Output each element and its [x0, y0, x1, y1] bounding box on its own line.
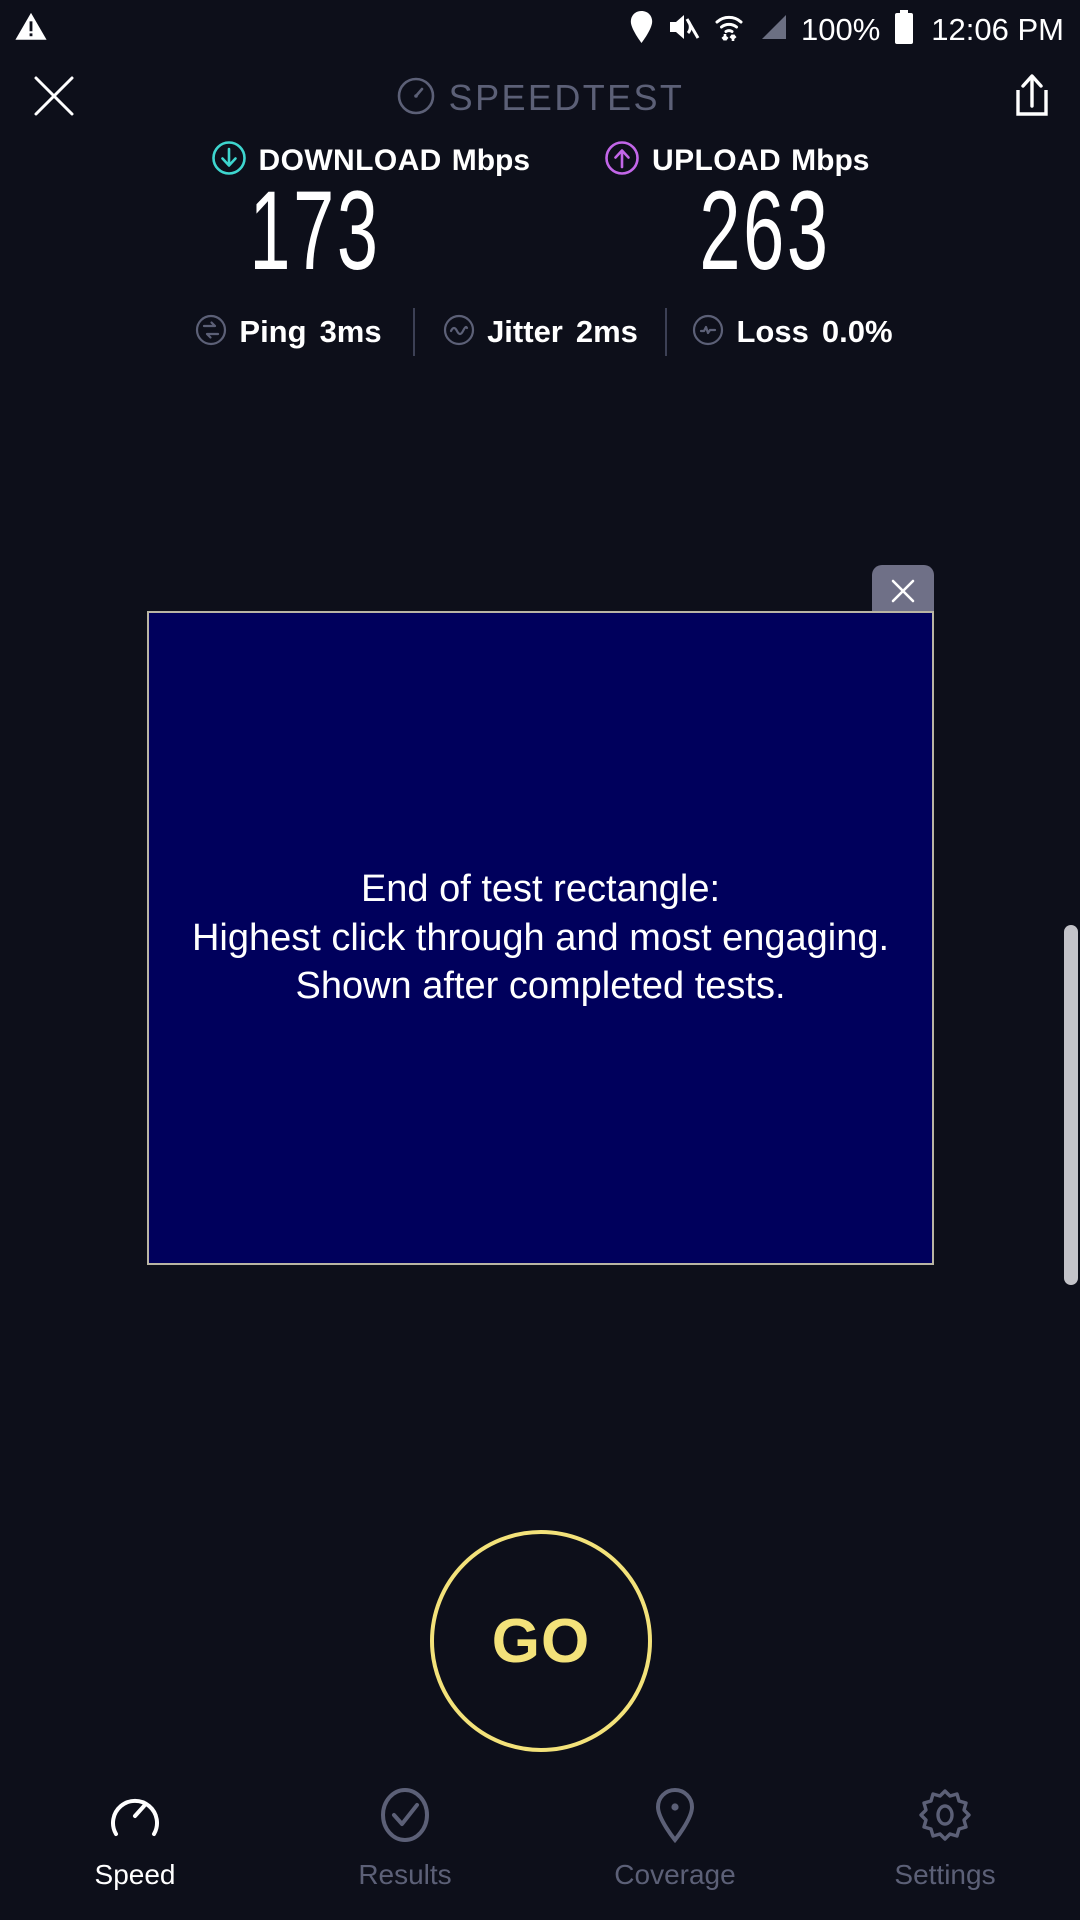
check-circle-icon: [376, 1786, 434, 1849]
download-value: 173: [206, 175, 424, 287]
wifi-transfer-icon: [713, 11, 745, 48]
nav-item-coverage[interactable]: Coverage: [540, 1772, 810, 1920]
jitter-icon: [442, 313, 476, 352]
ad-close-button[interactable]: [872, 565, 934, 617]
go-button[interactable]: GO: [430, 1530, 652, 1752]
volume-mute-icon: [668, 12, 700, 47]
status-bar-left: [14, 10, 48, 49]
jitter-value: 2ms: [576, 314, 638, 350]
jitter-label: Jitter: [487, 314, 563, 350]
bottom-navigation: Speed Results Coverage Settings: [0, 1772, 1080, 1920]
brand-title: SPEEDTEST: [449, 77, 685, 119]
ad-text-line-1: End of test rectangle:: [192, 865, 889, 914]
share-icon[interactable]: [1010, 72, 1054, 125]
battery-percent-label: 100%: [801, 14, 880, 45]
download-unit: Mbps: [452, 144, 530, 178]
location-pin-icon: [628, 11, 655, 48]
nav-label-speed: Speed: [95, 1859, 176, 1891]
stat-loss: Loss 0.0%: [667, 313, 917, 352]
ad-text-line-3: Shown after completed tests.: [192, 962, 889, 1011]
nav-label-results: Results: [358, 1859, 451, 1891]
status-bar: 100% 12:06 PM: [0, 0, 1080, 58]
nav-label-coverage: Coverage: [614, 1859, 735, 1891]
results-summary: DOWNLOAD Mbps UPLOAD Mbps 173 263: [0, 140, 1080, 287]
ping-icon: [194, 313, 228, 352]
go-button-label: GO: [492, 1606, 590, 1677]
upload-value: 263: [656, 175, 874, 287]
status-time: 12:06 PM: [931, 14, 1064, 45]
arrow-up-circle-icon: [604, 140, 640, 181]
speedometer-icon: [396, 76, 436, 121]
speedometer-icon: [106, 1786, 164, 1849]
gear-icon: [916, 1786, 974, 1849]
loss-label: Loss: [736, 314, 808, 350]
battery-full-icon: [893, 10, 915, 49]
page-scrollbar[interactable]: [1064, 925, 1078, 1285]
ad-banner[interactable]: End of test rectangle: Highest click thr…: [147, 611, 934, 1265]
ad-text-line-2: Highest click through and most engaging.: [192, 914, 889, 963]
ping-label: Ping: [239, 314, 306, 350]
cellular-signal-icon: [758, 12, 788, 47]
ping-value: 3ms: [320, 314, 382, 350]
warning-triangle-icon: [14, 10, 48, 49]
nav-label-settings: Settings: [894, 1859, 995, 1891]
advertisement: End of test rectangle: Highest click thr…: [147, 611, 934, 1265]
ad-text: End of test rectangle: Highest click thr…: [186, 865, 895, 1011]
nav-item-results[interactable]: Results: [270, 1772, 540, 1920]
metric-values-row: 173 263: [0, 175, 1080, 287]
close-icon[interactable]: [32, 74, 76, 123]
stats-row: Ping 3ms Jitter 2ms Loss 0.0%: [0, 302, 1080, 362]
app-header: SPEEDTEST: [0, 58, 1080, 138]
map-pin-icon: [646, 1786, 704, 1849]
stat-ping: Ping 3ms: [163, 313, 413, 352]
status-bar-right: 100% 12:06 PM: [628, 10, 1064, 49]
brand: SPEEDTEST: [0, 76, 1080, 121]
loss-value: 0.0%: [822, 314, 893, 350]
loss-icon: [691, 313, 725, 352]
close-icon: [888, 576, 918, 606]
nav-item-speed[interactable]: Speed: [0, 1772, 270, 1920]
nav-item-settings[interactable]: Settings: [810, 1772, 1080, 1920]
stat-jitter: Jitter 2ms: [415, 313, 665, 352]
